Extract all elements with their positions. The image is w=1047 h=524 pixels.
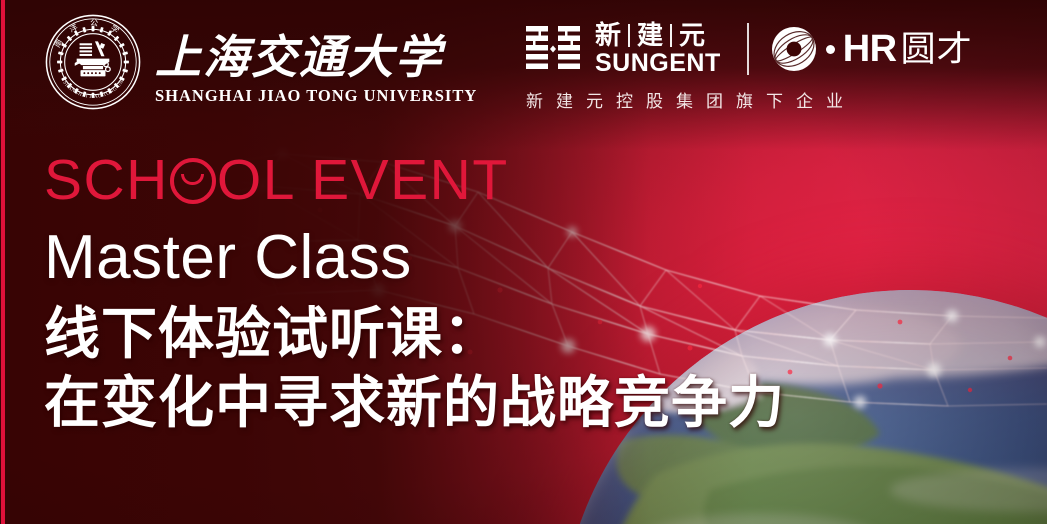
sungent-maze-mark-icon bbox=[524, 24, 582, 74]
main-copy-block: SCH OL EVENT Master Class 线下体验试听课： 在变化中寻… bbox=[44, 152, 924, 434]
partner-logo-row: 新 建 元 SUNGENT bbox=[524, 20, 1024, 78]
ohr-name-cn: 圆才 bbox=[901, 32, 973, 67]
title-chinese-line1: 线下体验试听课： bbox=[44, 305, 924, 364]
sungent-cn-2: 建 bbox=[637, 22, 663, 48]
sungent-cn-1: 新 bbox=[595, 22, 621, 48]
ohr-sphere-mark-icon bbox=[771, 26, 817, 72]
sungent-divider-2 bbox=[670, 24, 672, 47]
sjtu-logo-group: 南 洋 公 学 SHANGHAI JIAO TONG UNIVERSITY 上海… bbox=[45, 14, 477, 110]
sjtu-name-block: 上海交通大学 SHANGHAI JIAO TONG UNIVERSITY bbox=[155, 34, 477, 110]
ohr-separator-dot bbox=[826, 45, 835, 54]
shanghai-jiao-tong-university-seal-icon: 南 洋 公 学 SHANGHAI JIAO TONG UNIVERSITY bbox=[45, 14, 141, 110]
eyebrow-school-event: SCH OL EVENT bbox=[44, 152, 924, 209]
school-event-banner: 南 洋 公 学 SHANGHAI JIAO TONG UNIVERSITY 上海… bbox=[0, 0, 1047, 524]
sjtu-name-en: SHANGHAI JIAO TONG UNIVERSITY bbox=[155, 86, 477, 106]
group-tagline: 新建元控股集团旗下企业 bbox=[524, 87, 1024, 112]
eyebrow-text-after: OL EVENT bbox=[217, 152, 509, 209]
sungent-name-en: SUNGENT bbox=[595, 51, 721, 76]
sungent-cn-3: 元 bbox=[679, 22, 705, 48]
sjtu-name-cn: 上海交通大学 bbox=[155, 34, 477, 83]
sungent-divider-1 bbox=[628, 24, 630, 47]
title-english: Master Class bbox=[44, 227, 924, 289]
header-logo-bar: 南 洋 公 学 SHANGHAI JIAO TONG UNIVERSITY 上海… bbox=[0, 0, 1047, 132]
partner-vertical-divider bbox=[747, 23, 749, 75]
ohr-letters-hr: HR bbox=[843, 30, 897, 68]
smiling-o-icon bbox=[170, 158, 216, 204]
sungent-text-block: 新 建 元 SUNGENT bbox=[595, 22, 721, 76]
sungent-name-cn: 新 建 元 bbox=[595, 22, 721, 48]
ohr-logo-group: HR 圆才 bbox=[771, 26, 973, 72]
eyebrow-text-before: SCH bbox=[44, 152, 169, 209]
title-chinese-line2: 在变化中寻求新的战略竞争力 bbox=[44, 374, 924, 433]
partner-logo-group: 新 建 元 SUNGENT bbox=[524, 20, 1024, 112]
